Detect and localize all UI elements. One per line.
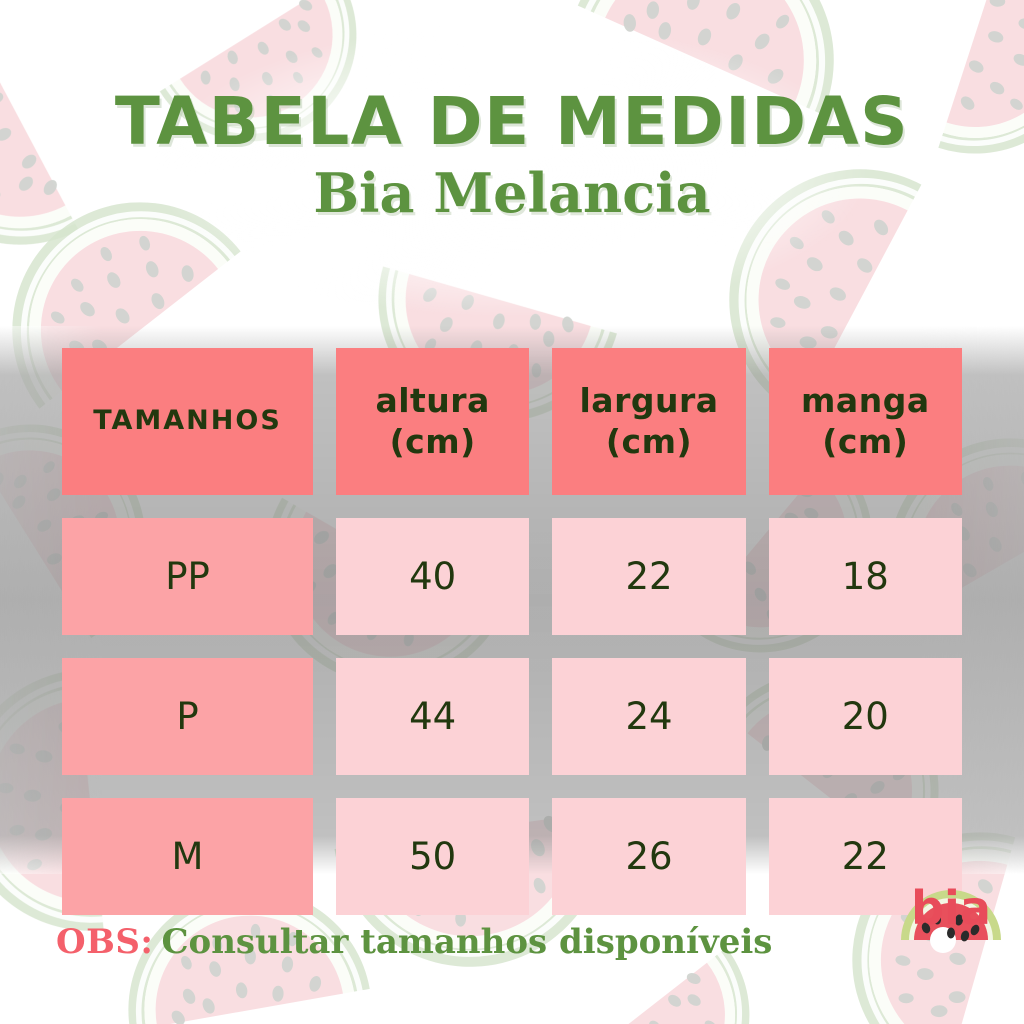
- column-header-manga-line1: manga: [801, 381, 930, 420]
- cell-manga: 18: [769, 518, 962, 635]
- column-header-tamanhos: TAMANHOS: [62, 348, 313, 495]
- cell-size: M: [62, 798, 313, 915]
- logo-wordmark: bia: [911, 881, 991, 935]
- observation-label: OBS:: [56, 922, 153, 962]
- cell-altura: 50: [336, 798, 529, 915]
- column-header-largura: largura (cm): [552, 348, 745, 495]
- observation-note: OBS:Consultar tamanhos disponíveis: [56, 925, 772, 959]
- cell-size-value: P: [176, 698, 198, 735]
- cell-largura: 22: [552, 518, 745, 635]
- column-header-manga-line2: (cm): [822, 422, 908, 461]
- bia-brand-logo: bia: [893, 878, 1009, 994]
- cell-size: PP: [62, 518, 313, 635]
- column-header-tamanhos-label: TAMANHOS: [93, 405, 282, 438]
- column-header-largura-line1: largura: [579, 381, 718, 420]
- cell-largura: 24: [552, 658, 745, 775]
- column-header-altura: altura (cm): [336, 348, 529, 495]
- cell-altura: 40: [336, 518, 529, 635]
- column-header-altura-line2: (cm): [390, 422, 476, 461]
- cell-largura-value: 26: [625, 838, 672, 875]
- page-header: TABELA DE MEDIDAS Bia Melancia: [0, 0, 1024, 222]
- table-row: P 44 24 20: [62, 658, 962, 775]
- watermelon-slice-icon: bia: [893, 878, 1009, 994]
- cell-altura-value: 44: [409, 698, 456, 735]
- table-row: M 50 26 22: [62, 798, 962, 915]
- size-chart-page: TABELA DE MEDIDAS Bia Melancia TAMANHOS …: [0, 0, 1024, 1024]
- column-header-largura-line2: (cm): [606, 422, 692, 461]
- cell-manga-value: 20: [842, 698, 889, 735]
- cell-size-value: M: [172, 838, 204, 875]
- cell-largura-value: 24: [625, 698, 672, 735]
- cell-manga: 20: [769, 658, 962, 775]
- table-header-row: TAMANHOS altura (cm) largura (cm) manga …: [62, 348, 962, 495]
- page-title: TABELA DE MEDIDAS: [0, 88, 1024, 155]
- column-header-manga: manga (cm): [769, 348, 962, 495]
- cell-size: P: [62, 658, 313, 775]
- column-header-manga-label: manga (cm): [801, 381, 930, 462]
- observation-text: Consultar tamanhos disponíveis: [161, 922, 772, 962]
- column-header-largura-label: largura (cm): [579, 381, 718, 462]
- cell-manga-value: 22: [842, 838, 889, 875]
- cell-altura-value: 40: [409, 558, 456, 595]
- cell-largura-value: 22: [625, 558, 672, 595]
- cell-manga-value: 18: [842, 558, 889, 595]
- table-row: PP 40 22 18: [62, 518, 962, 635]
- cell-altura-value: 50: [409, 838, 456, 875]
- cell-altura: 44: [336, 658, 529, 775]
- page-subtitle: Bia Melancia: [0, 165, 1024, 222]
- cell-size-value: PP: [165, 558, 210, 595]
- column-header-altura-label: altura (cm): [375, 381, 489, 462]
- cell-largura: 26: [552, 798, 745, 915]
- column-header-altura-line1: altura: [375, 381, 489, 420]
- size-measurements-table: TAMANHOS altura (cm) largura (cm) manga …: [62, 348, 962, 915]
